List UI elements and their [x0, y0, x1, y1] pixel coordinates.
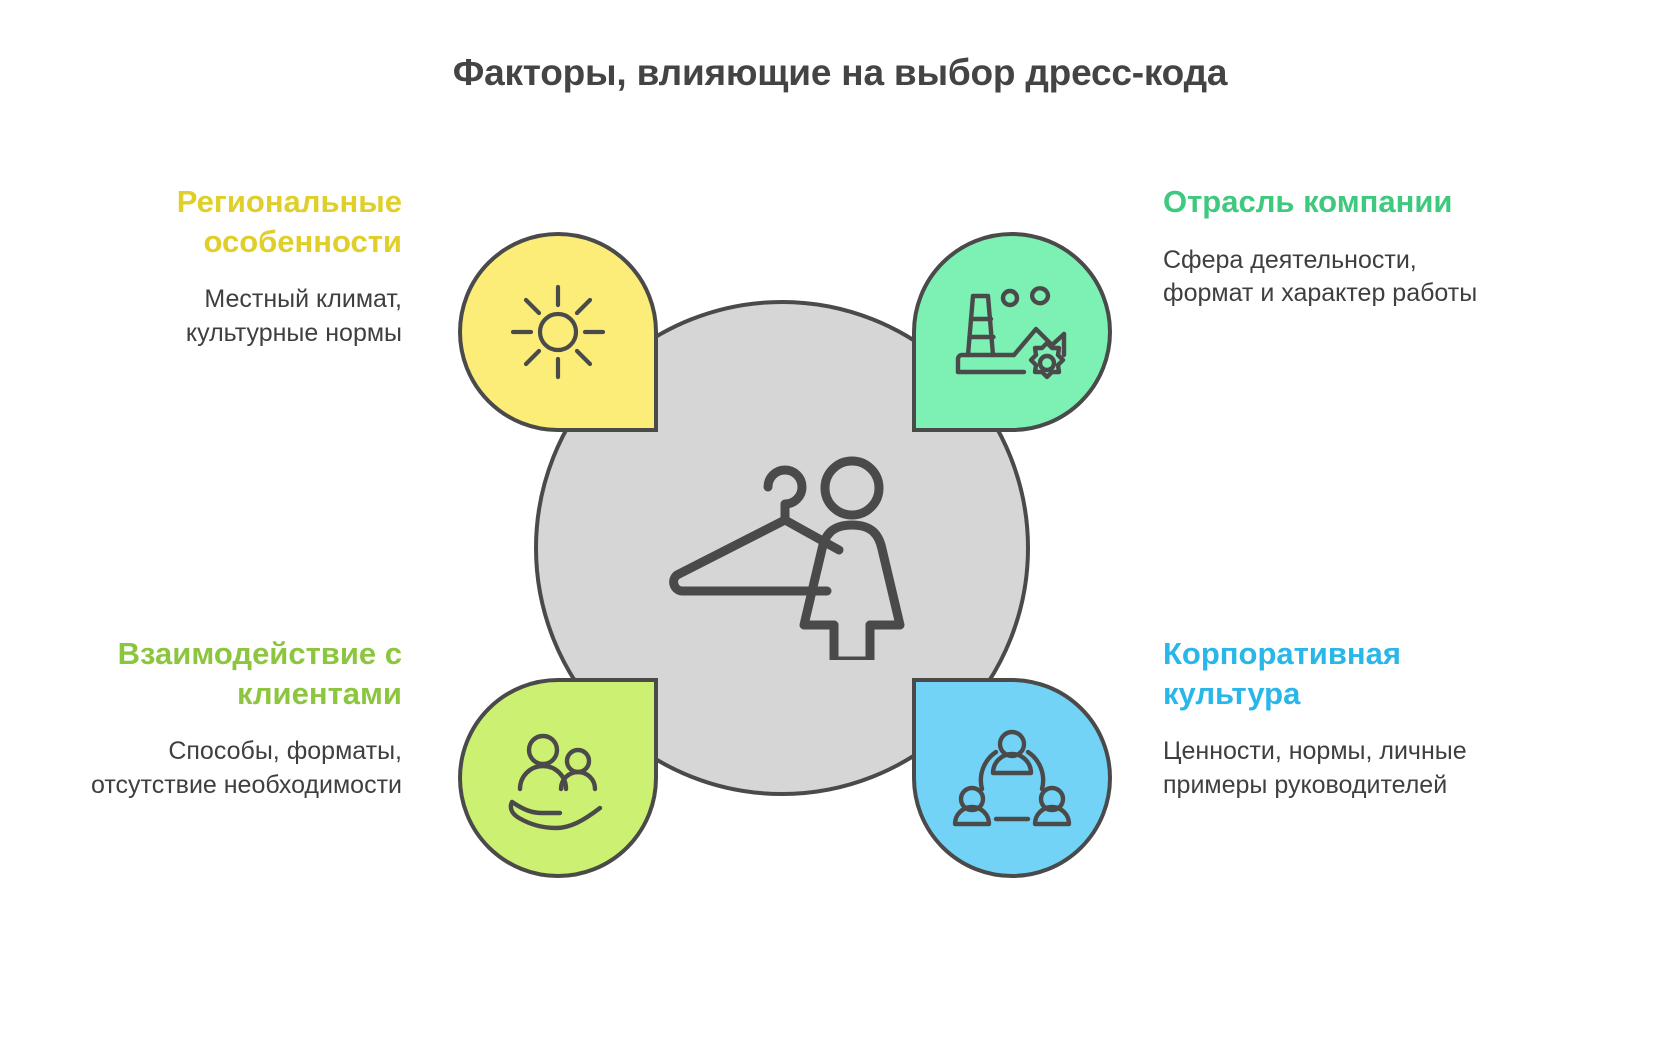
factor-body-industry: Сфера деятельности, формат и характер ра…: [1163, 244, 1493, 312]
factor-text-regional: Региональные особенности Местный климат,…: [72, 182, 402, 351]
factor-text-industry: Отрасль компании Сфера деятельности, фор…: [1163, 182, 1493, 311]
people-network-icon: [952, 723, 1072, 833]
factor-heading-culture: Корпоративная культура: [1163, 634, 1493, 713]
factor-shape-industry[interactable]: [912, 232, 1112, 432]
factor-shape-regional[interactable]: [458, 232, 658, 432]
factor-shape-clients[interactable]: [458, 678, 658, 878]
hanger-and-person-icon: [655, 440, 915, 660]
factor-text-culture: Корпоративная культура Ценности, нормы, …: [1163, 634, 1493, 803]
infographic-canvas: Факторы, влияющие на выбор дресс-кода: [0, 0, 1680, 1039]
factor-heading-industry: Отрасль компании: [1163, 182, 1493, 222]
factory-icon: [952, 277, 1072, 387]
people-in-hand-icon: [498, 723, 618, 833]
factor-body-regional: Местный климат, культурные нормы: [72, 283, 402, 351]
factor-text-clients: Взаимодействие с клиентами Способы, форм…: [72, 634, 402, 803]
sun-icon: [503, 277, 613, 387]
factor-body-clients: Способы, форматы, отсутствие необходимос…: [72, 735, 402, 803]
factor-heading-regional: Региональные особенности: [72, 182, 402, 261]
factor-body-culture: Ценности, нормы, личные примеры руководи…: [1163, 735, 1493, 803]
factor-shape-culture[interactable]: [912, 678, 1112, 878]
page-title: Факторы, влияющие на выбор дресс-кода: [0, 52, 1680, 94]
factor-heading-clients: Взаимодействие с клиентами: [72, 634, 402, 713]
